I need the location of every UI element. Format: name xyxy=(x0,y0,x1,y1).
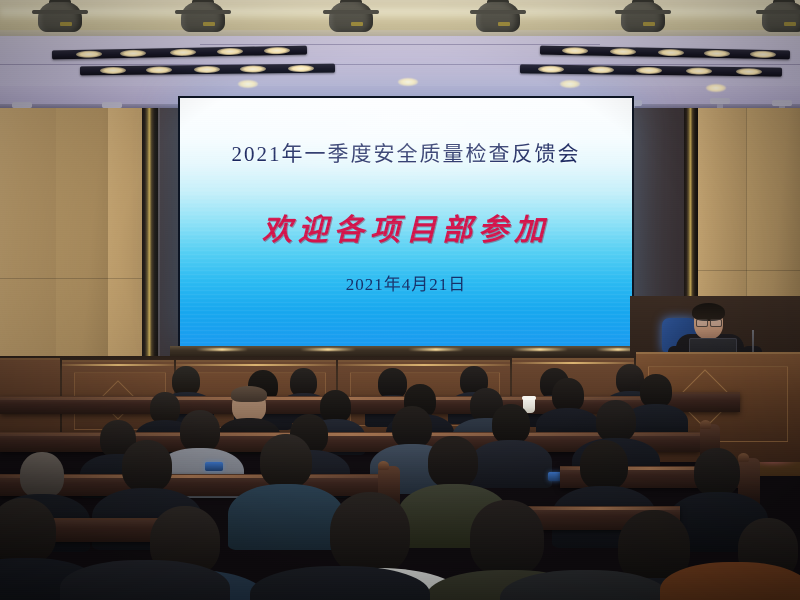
panel-highlight xyxy=(158,108,160,392)
stage-gold-trim xyxy=(512,362,634,364)
ceiling-downlight xyxy=(560,80,580,88)
ceiling-spotlight-icon xyxy=(615,0,671,34)
rail-gleam xyxy=(300,348,356,351)
ceiling-downlight xyxy=(238,80,258,88)
wall-panel-tan xyxy=(698,108,746,302)
ceiling-downlight xyxy=(706,84,726,92)
panel-seam xyxy=(0,278,142,279)
wall-panel-tan xyxy=(746,108,800,300)
phone-screen xyxy=(205,462,223,471)
ceiling-spotlight-icon xyxy=(470,0,526,34)
ceiling-spotlight-icon xyxy=(175,0,231,34)
stage-gold-trim xyxy=(62,364,174,366)
panel-seam xyxy=(698,270,800,271)
ceiling-spotlight-icon xyxy=(32,0,88,34)
rail-gleam xyxy=(408,348,464,351)
ceiling-seam xyxy=(200,44,600,45)
slide-welcome: 欢迎各项目部参加 xyxy=(180,205,632,249)
bench-knob xyxy=(378,461,389,470)
ceiling-cove xyxy=(0,0,800,33)
wall-panel-dark xyxy=(632,108,684,306)
rail-gleam xyxy=(512,348,568,351)
stage-gold-trim xyxy=(176,364,336,366)
mirror-strip xyxy=(142,108,158,394)
ceiling-spotlight-icon xyxy=(323,0,379,34)
slide-date: 2021年4月21日 xyxy=(180,270,632,295)
projection-screen: 2021年一季度安全质量检查反馈会 欢迎各项目部参加 2021年4月21日 xyxy=(180,98,632,346)
stage-gold-trim xyxy=(338,364,510,366)
eyeglasses-icon xyxy=(696,319,721,325)
conference-hall-photo: 2021年一季度安全质量检查反馈会 欢迎各项目部参加 2021年4月21日 xyxy=(0,0,800,600)
mirror-strip xyxy=(684,108,698,304)
bench-knob xyxy=(738,453,749,462)
ceiling-seam xyxy=(0,64,800,65)
panel-seam xyxy=(746,108,747,300)
bench-knob xyxy=(700,420,711,429)
ceiling-downlight xyxy=(398,78,418,86)
ceiling-spotlight-icon xyxy=(756,0,800,34)
slide-title: 2021年一季度安全质量检查反馈会 xyxy=(180,138,632,168)
wall-panel-tan xyxy=(56,108,108,398)
wall-panel-tan xyxy=(108,108,142,396)
rail-gleam xyxy=(196,348,248,351)
